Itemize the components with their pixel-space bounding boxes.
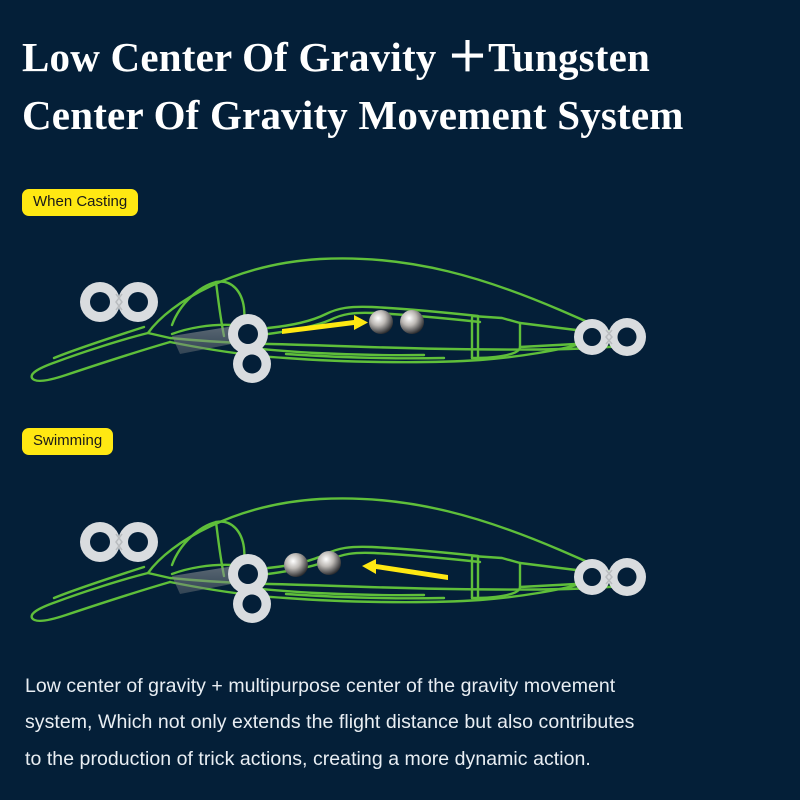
lure-diagram-swimming (20, 490, 660, 640)
page-title-line-2: Center Of Gravity Movement System (22, 86, 782, 144)
tail-taper-top (472, 316, 520, 347)
tungsten-balls (284, 551, 341, 577)
tail-taper-top (472, 556, 520, 587)
tail-ring (574, 558, 646, 596)
description-line-3: to the production of trick actions, crea… (25, 741, 770, 777)
tail-shank-top (520, 563, 576, 570)
description-line-2: system, Which not only extends the fligh… (25, 704, 770, 740)
tail-shank-top (520, 323, 576, 330)
description-line-1: Low center of gravity + multipurpose cen… (25, 668, 770, 704)
belly-split-ring (233, 345, 271, 383)
lure-diagram-casting (20, 250, 660, 400)
page-title: Low Center Of Gravity ＋Tungsten Center O… (22, 28, 782, 144)
product-feature-panel: Low Center Of Gravity ＋Tungsten Center O… (0, 0, 800, 800)
description-paragraph: Low center of gravity + multipurpose cen… (25, 668, 770, 777)
belly-split-ring (233, 585, 271, 623)
nose-ring (80, 282, 158, 322)
nose-ring (80, 522, 158, 562)
badge-when-casting: When Casting (22, 189, 138, 216)
tail-ring (574, 318, 646, 356)
badge-swimming: Swimming (22, 428, 113, 455)
page-title-line-1: Low Center Of Gravity ＋Tungsten (22, 28, 782, 86)
movement-arrow-left (362, 559, 448, 580)
